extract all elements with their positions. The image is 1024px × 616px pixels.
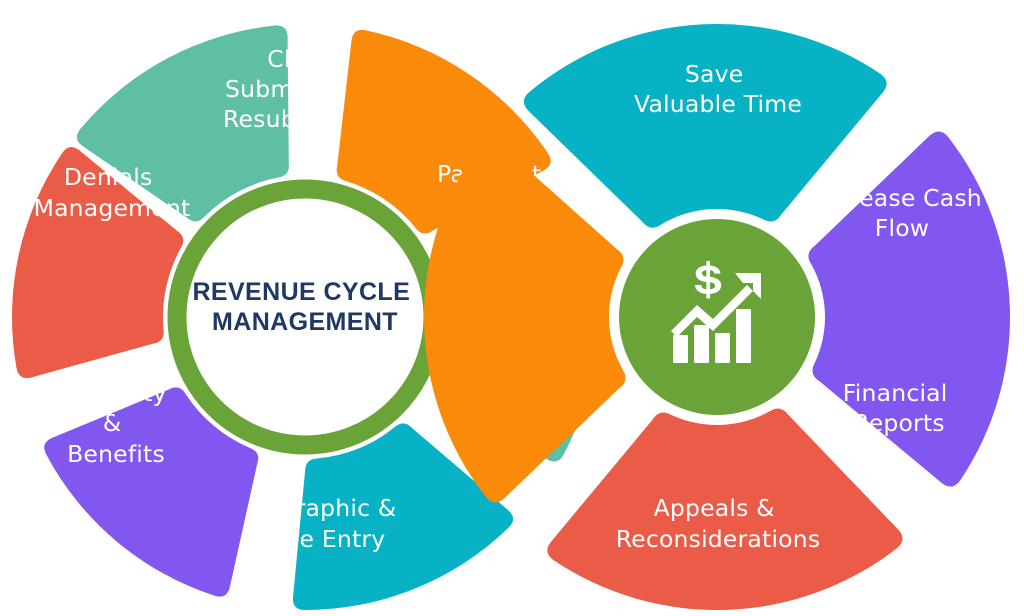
right-hub[interactable]	[619, 219, 815, 415]
segment-appeals-reconsiderations-shape[interactable]	[424, 139, 626, 502]
revenue-cycle-management-diagram: Claim Submission / Resubmission Payment …	[0, 0, 1024, 616]
infographic-canvas: Claim Submission / Resubmission Payment …	[0, 0, 1024, 616]
left-hub[interactable]: REVENUE CYCLE MANAGEMENT	[177, 189, 433, 445]
